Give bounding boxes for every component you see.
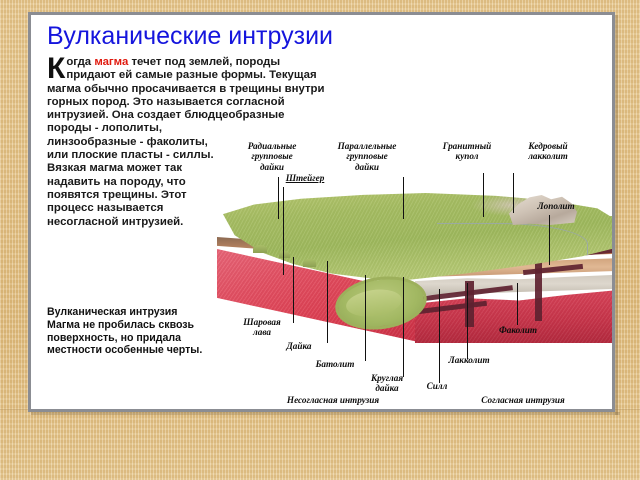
leader-laccolith (467, 283, 468, 359)
caption-heading: Вулканическая интрузия (47, 306, 229, 318)
label-lopolith: Лополит (525, 201, 587, 211)
label-sill: Силл (417, 381, 457, 391)
slide-shadow-right (615, 15, 618, 415)
label-radial-dikes: Радиальные групповые дайки (231, 141, 313, 172)
leader-ring-dike (403, 277, 404, 377)
body-text-pre: огда (66, 56, 94, 68)
label-ring-dike: Круглая дайка (357, 373, 417, 394)
leader-dike (327, 261, 328, 343)
label-laccolith: Лакколит (441, 355, 497, 365)
leader-parallel-dikes (403, 177, 404, 219)
label-dike: Дайка (275, 341, 323, 351)
pillow-lava-bump-1 (253, 245, 267, 253)
leader-shtejger (283, 187, 284, 275)
label-shtejger: Штейгер (275, 173, 335, 183)
leader-lopolith (549, 215, 550, 265)
page-title: Вулканические интрузии (47, 22, 333, 51)
leader-cedar-lacc (513, 173, 514, 213)
label-batholith: Батолит (307, 359, 363, 369)
slide-canvas: Вулканические интрузии Когда магма течет… (28, 12, 615, 412)
leader-batholith (365, 275, 366, 361)
body-text-tail: породы - лополиты, линзообразные - факол… (47, 122, 223, 228)
pillow-lava-bump-2 (279, 251, 290, 258)
pillow-lava-bump-3 (303, 259, 316, 267)
leader-phacolith (517, 283, 518, 325)
ring-dike-bowl-inner (344, 286, 403, 320)
geology-block-diagram: Радиальные групповые дайки Параллельные … (217, 133, 615, 411)
leader-pillow-lava (293, 257, 294, 323)
caption-block: Вулканическая интрузия Магма не пробилас… (47, 306, 229, 357)
label-granite-dome: Гранитный купол (429, 141, 505, 162)
slide-shadow-bottom (31, 412, 620, 415)
leader-sill (439, 289, 440, 383)
label-cedar-laccolith: Кедровый лакколит (511, 141, 585, 162)
label-discordant-intrusion: Несогласная интрузия (263, 395, 403, 405)
label-phacolith: Факолит (487, 325, 549, 335)
label-pillow-lava: Шаровая лава (231, 317, 293, 338)
drop-cap: К (47, 56, 66, 81)
leader-granite-dome (483, 173, 484, 217)
label-concordant-intrusion: Согласная интрузия (453, 395, 593, 405)
magma-highlight: магма (94, 56, 128, 68)
caption-text: Магма не пробилась сквозь поверхность, н… (47, 319, 202, 356)
label-parallel-dikes: Параллельные групповые дайки (323, 141, 411, 172)
